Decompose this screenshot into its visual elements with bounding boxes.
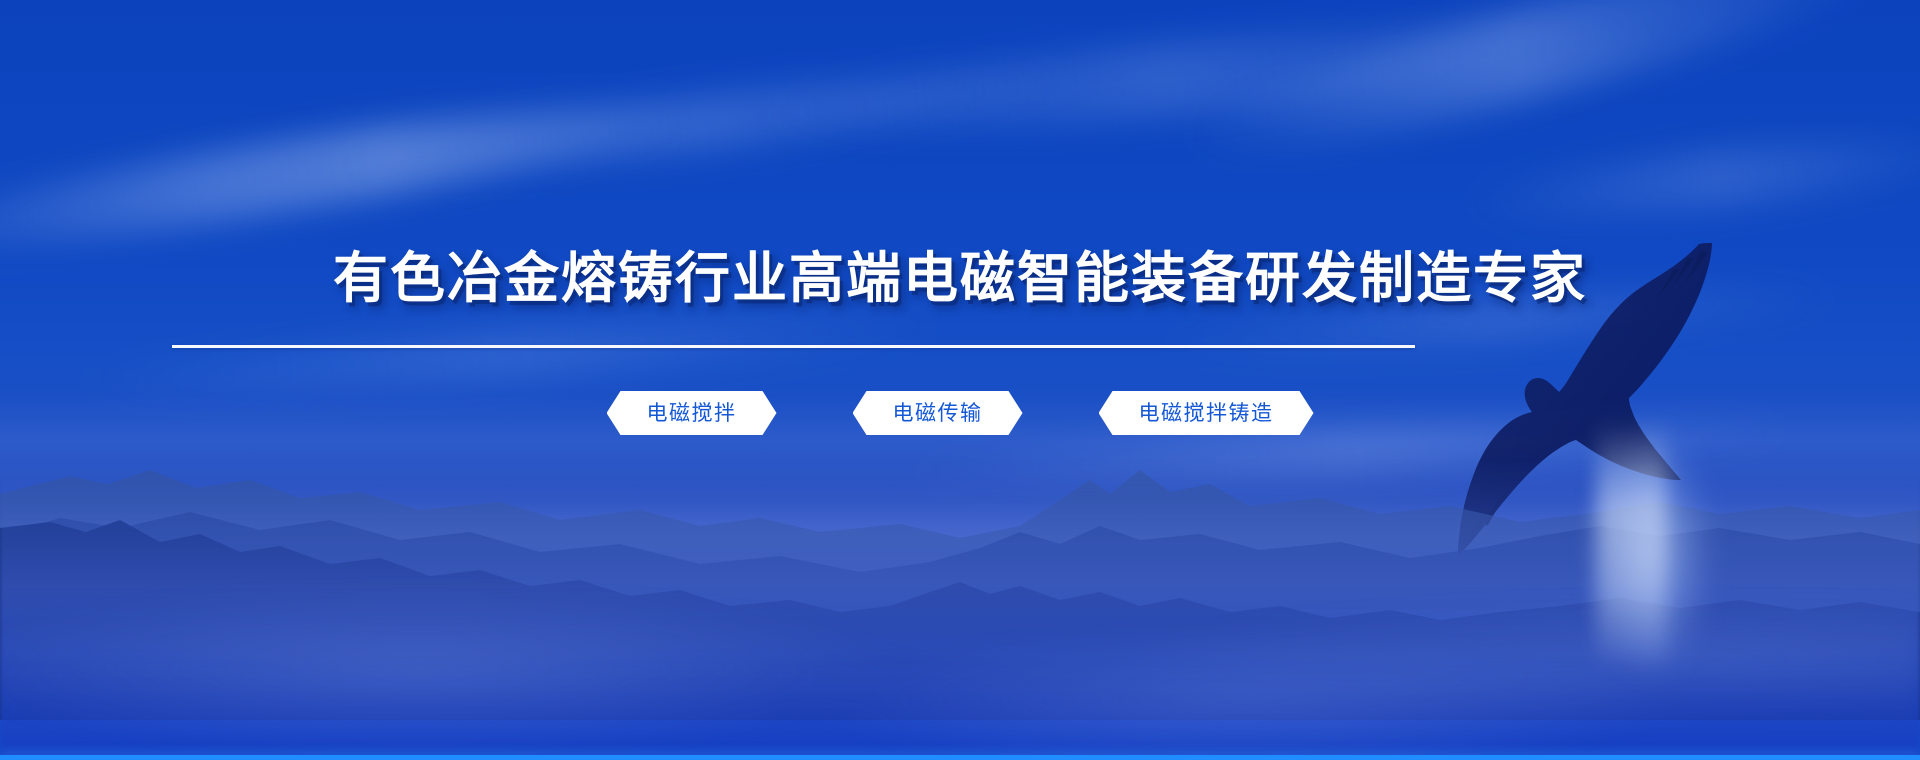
keyword-tag-list: 电磁搅拌 电磁传输 电磁搅拌铸造 [0, 391, 1920, 435]
bottom-accent-strip [0, 755, 1920, 760]
banner-content: 有色冶金熔铸行业高端电磁智能装备研发制造专家 电磁搅拌 电磁传输 电磁搅拌铸造 [0, 0, 1920, 760]
keyword-tag-label: 电磁搅拌铸造 [1139, 403, 1274, 424]
keyword-tag-electromagnetic-transmission[interactable]: 电磁传输 [853, 391, 1023, 435]
keyword-tag-electromagnetic-stirring[interactable]: 电磁搅拌 [607, 391, 777, 435]
banner-headline: 有色冶金熔铸行业高端电磁智能装备研发制造专家 [0, 250, 1920, 308]
headline-divider [172, 345, 1415, 348]
hero-banner: 有色冶金熔铸行业高端电磁智能装备研发制造专家 电磁搅拌 电磁传输 电磁搅拌铸造 [0, 0, 1920, 760]
keyword-tag-electromagnetic-stirring-casting[interactable]: 电磁搅拌铸造 [1099, 391, 1314, 435]
keyword-tag-label: 电磁传输 [893, 403, 983, 424]
keyword-tag-label: 电磁搅拌 [647, 403, 737, 424]
